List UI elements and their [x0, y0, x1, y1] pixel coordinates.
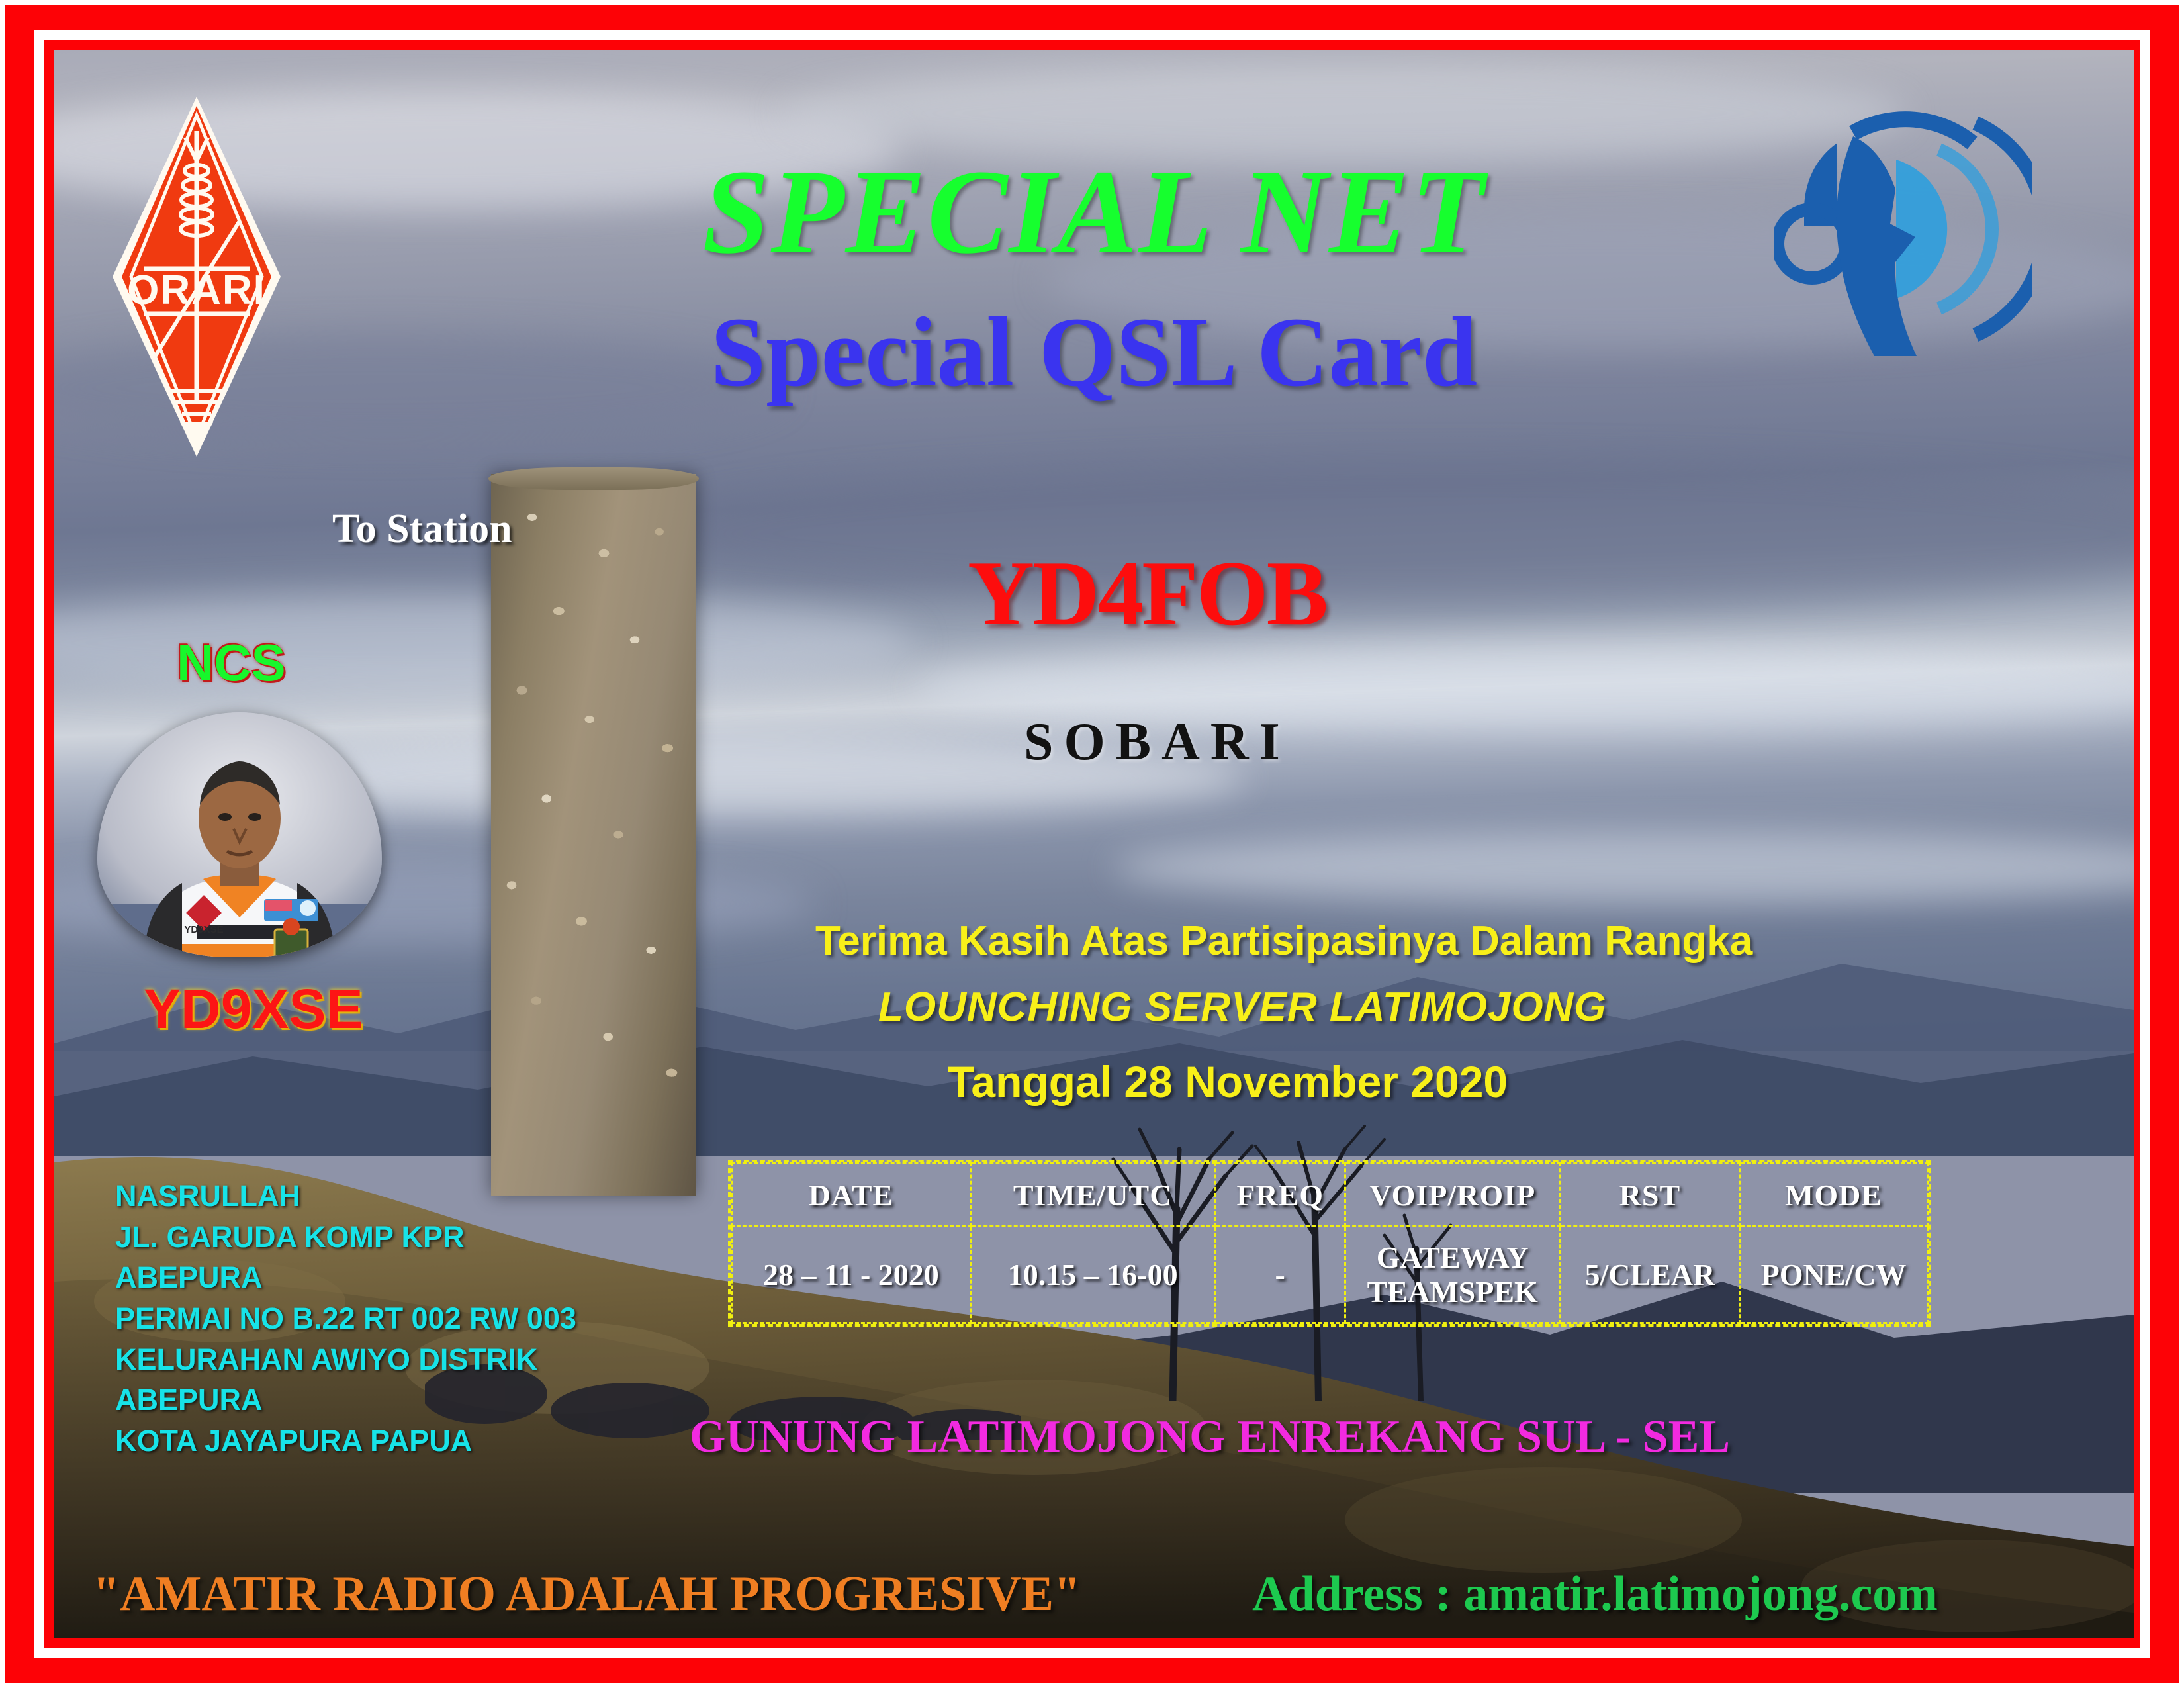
page-subtitle-qsl-card: Special QSL Card [54, 295, 2134, 409]
address-line: KOTA JAYAPURA PAPUA [115, 1421, 576, 1462]
ncs-label: NCS [177, 633, 286, 693]
table-header-row: DATE TIME/UTC FREQ VOIP/ROIP RST MODE [732, 1164, 1928, 1227]
column-header-voip: VOIP/ROIP [1345, 1164, 1560, 1227]
qso-details-table: DATE TIME/UTC FREQ VOIP/ROIP RST MODE 28… [728, 1160, 1931, 1327]
mailing-address-block: NASRULLAH JL. GARUDA KOMP KPR ABEPURA PE… [115, 1176, 576, 1461]
cell-time: 10.15 – 16-00 [970, 1227, 1215, 1323]
recipient-operator-name: SOBARI [1024, 712, 1291, 773]
location-caption: GUNUNG LATIMOJONG ENREKANG SUL - SEL [690, 1411, 1730, 1464]
background-photograph: ORARI [54, 50, 2134, 1638]
address-line: KELURAHAN AWIYO DISTRIK [115, 1339, 576, 1380]
cell-voip-line1: GATEWAY [1346, 1241, 1559, 1275]
column-header-rst: RST [1560, 1164, 1739, 1227]
footer-motto: "AMATIR RADIO ADALAH PROGRESIVE" [93, 1566, 1081, 1622]
svg-text:YD9XSE: YD9XSE [184, 924, 223, 935]
event-date: Tanggal 28 November 2020 [948, 1056, 1508, 1107]
table-row: 28 – 11 - 2020 10.15 – 16-00 - GATEWAY T… [732, 1227, 1928, 1323]
column-header-mode: MODE [1740, 1164, 1928, 1227]
recipient-callsign: YD4FOB [968, 540, 1326, 647]
cell-voip-line2: TEAMSPEK [1346, 1275, 1559, 1309]
address-line: ABEPURA [115, 1380, 576, 1421]
column-header-freq: FREQ [1215, 1164, 1345, 1227]
event-name: LOUNCHING SERVER LATIMOJONG [878, 984, 1607, 1031]
footer-web-address: Address : amatir.latimojong.com [1252, 1566, 1938, 1622]
address-line: JL. GARUDA KOMP KPR [115, 1217, 576, 1258]
content-layer: ORARI [54, 50, 2134, 1638]
cell-mode: PONE/CW [1740, 1227, 1928, 1323]
thanks-message: Terima Kasih Atas Partisipasinya Dalam R… [815, 917, 1752, 964]
page-title-special-net: SPECIAL NET [54, 143, 2134, 281]
address-line: ABEPURA [115, 1257, 576, 1298]
column-header-time: TIME/UTC [970, 1164, 1215, 1227]
address-line: NASRULLAH [115, 1176, 576, 1217]
cell-freq: - [1215, 1227, 1345, 1323]
to-station-label: To Station [332, 506, 512, 553]
qsl-card: ORARI [0, 0, 2184, 1688]
cell-rst: 5/CLEAR [1560, 1227, 1739, 1323]
ncs-callsign: YD9XSE [144, 977, 363, 1041]
cell-voip: GATEWAY TEAMSPEK [1345, 1227, 1560, 1323]
address-line: PERMAI NO B.22 RT 002 RW 003 [115, 1298, 576, 1339]
column-header-date: DATE [732, 1164, 971, 1227]
operator-portrait-photo: YD9XSE [97, 712, 382, 957]
cell-date: 28 – 11 - 2020 [732, 1227, 971, 1323]
